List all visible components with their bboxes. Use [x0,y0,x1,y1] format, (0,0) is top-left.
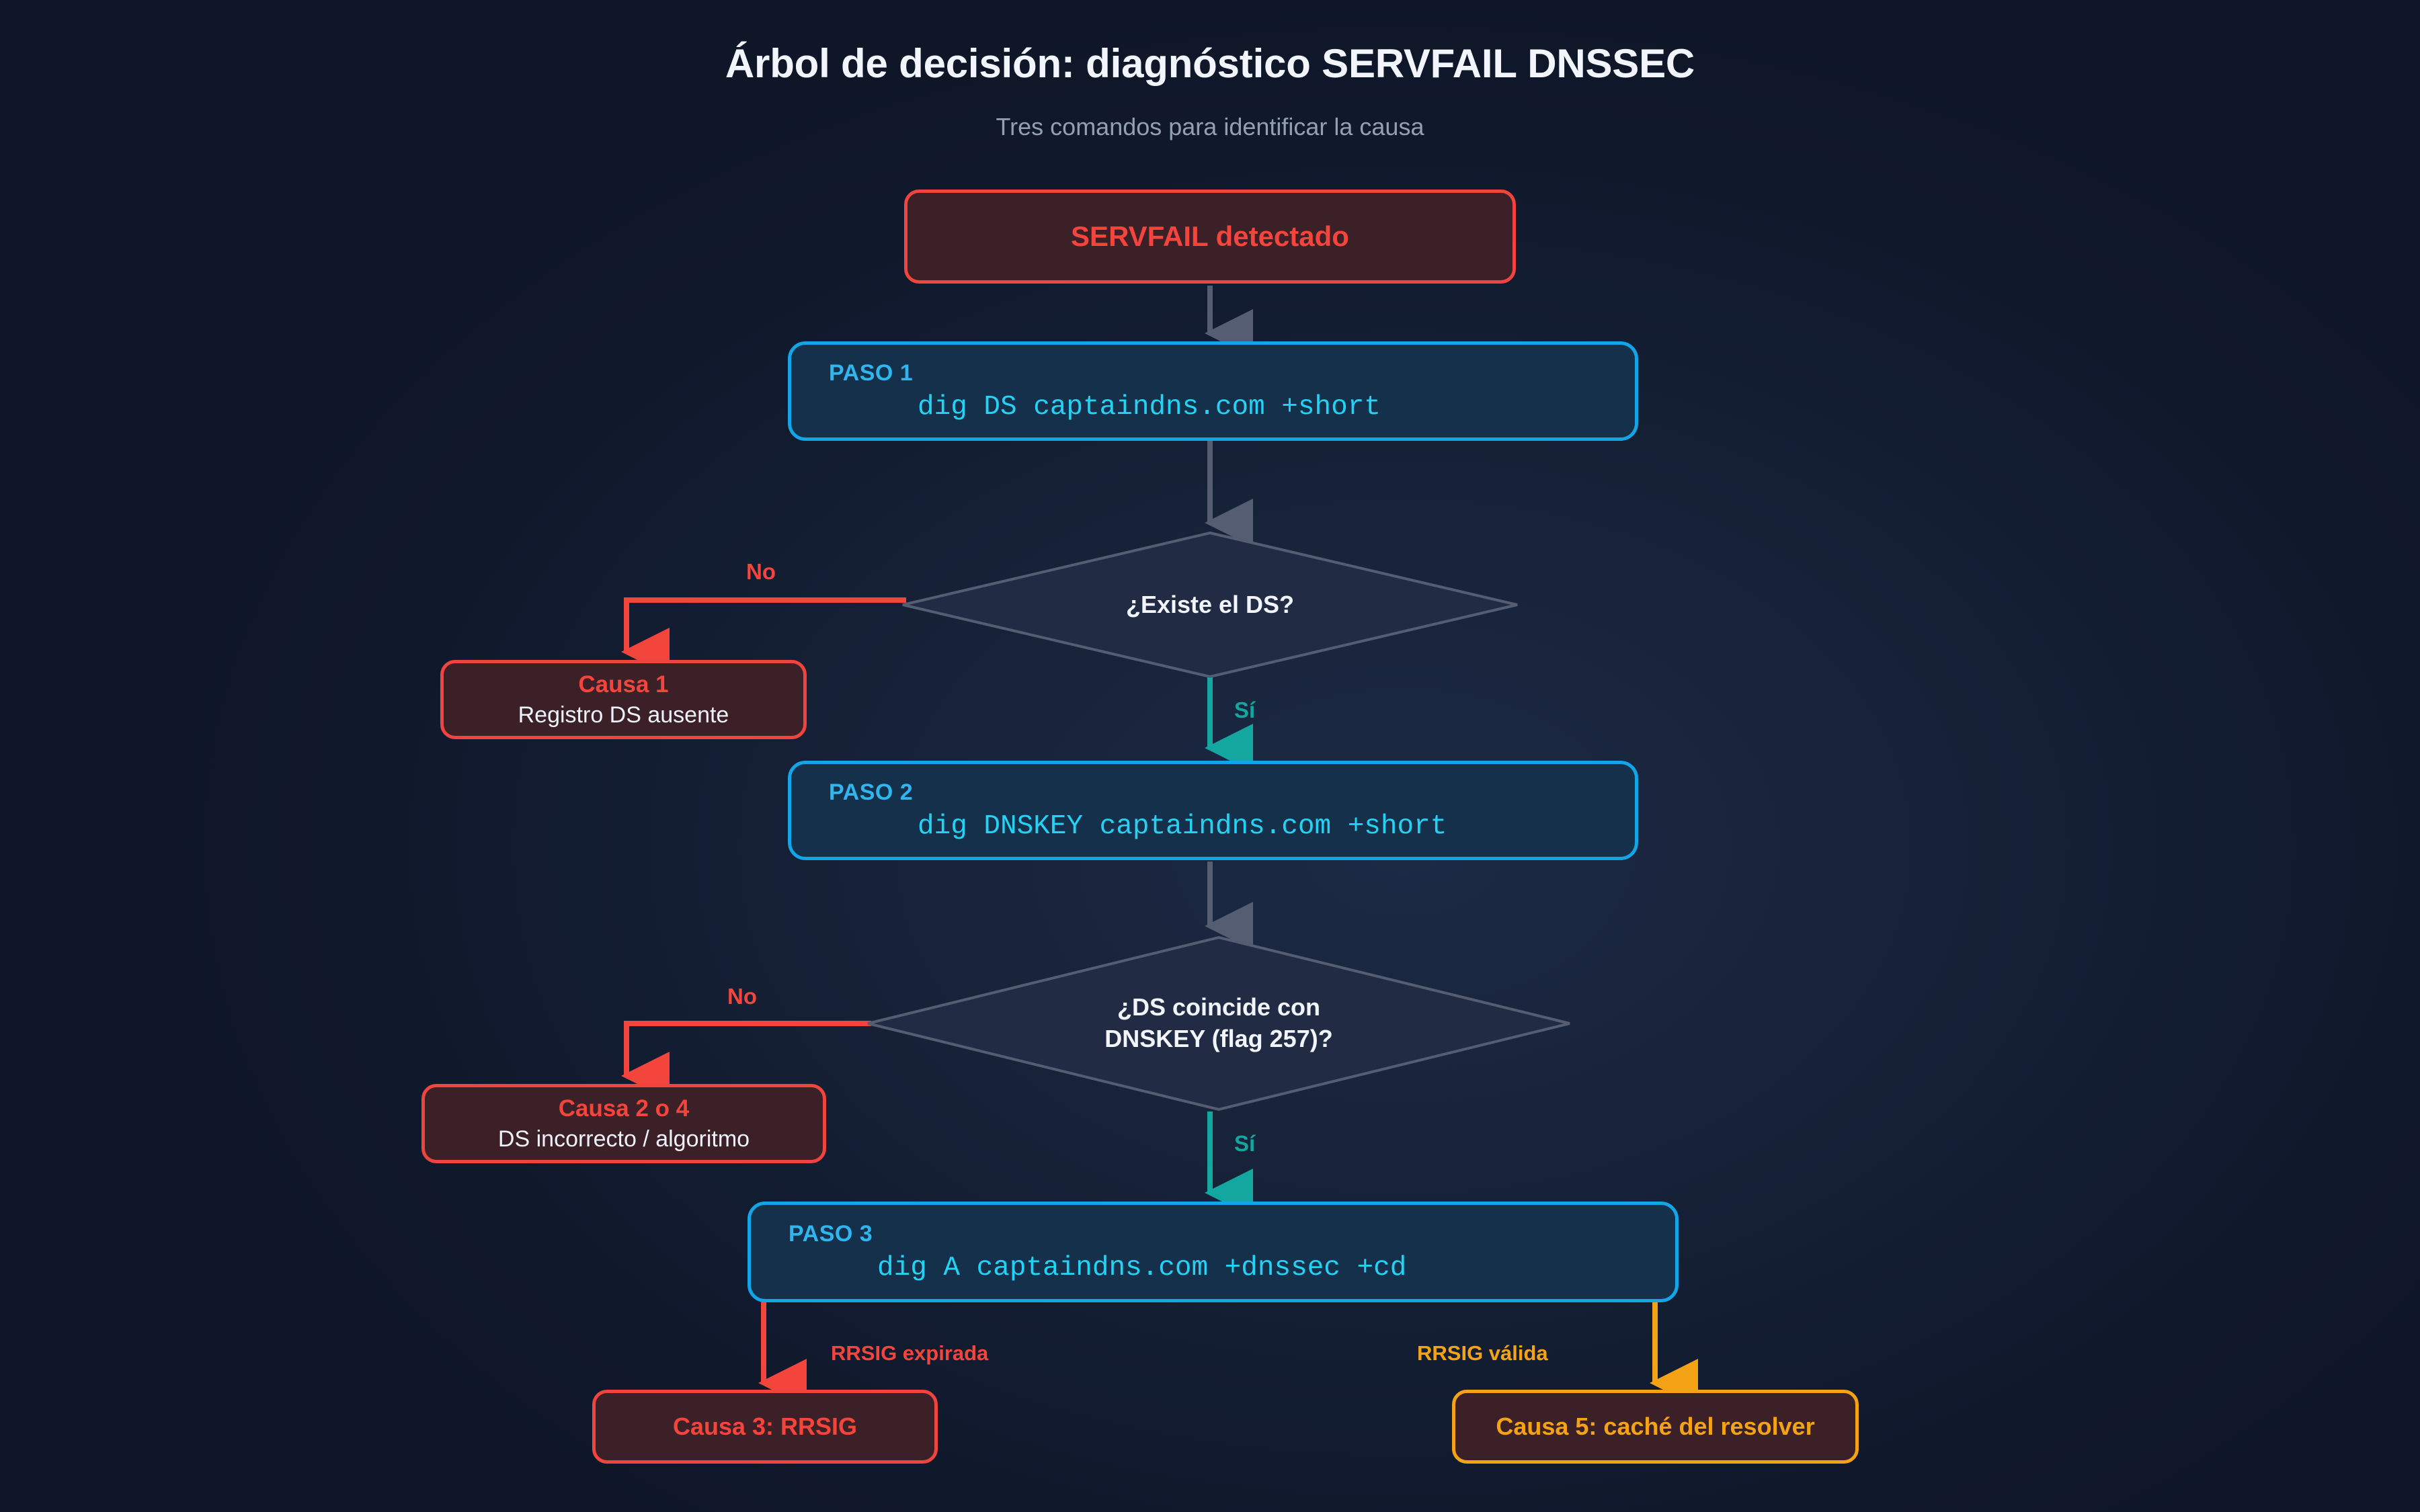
edge-label-rrsig-expirada: RRSIG expirada [831,1341,988,1366]
node-causa-1[interactable]: Causa 1 Registro DS ausente [440,660,807,739]
decision-2-question-line1: ¿DS coincide con [1104,992,1332,1023]
edge-step3-rrsig-valid [1408,1294,1655,1383]
causa-1-title: Causa 1 [578,671,668,698]
node-servfail-detectado[interactable]: SERVFAIL detectado [904,190,1516,284]
paso-2-step-label: PASO 2 [829,780,913,806]
diagram-canvas: Árbol de decisión: diagnóstico SERVFAIL … [0,0,2420,1512]
causa-24-title: Causa 2 o 4 [559,1095,690,1122]
decision-ds-coincide-dnskey[interactable]: ¿DS coincide con DNSKEY (flag 257)? [866,935,1572,1111]
paso-3-command: dig A captaindns.com +dnssec +cd [877,1253,1406,1284]
decision-2-question: ¿DS coincide con DNSKEY (flag 257)? [1104,992,1332,1055]
node-paso-1[interactable]: PASO 1 dig DS captaindns.com +short [788,341,1638,441]
decision-1-question: ¿Existe el DS? [1126,589,1294,621]
page-title: Árbol de decisión: diagnóstico SERVFAIL … [0,40,2420,87]
edge-step3-rrsig-expired [764,1294,1022,1383]
decision-2-question-line2: DNSKEY (flag 257)? [1104,1023,1332,1055]
causa-1-detail: Registro DS ausente [518,702,729,728]
edge-label-decision2-si: Sí [1234,1131,1255,1157]
node-servfail-label: SERVFAIL detectado [1071,220,1349,253]
edge-label-rrsig-valida: RRSIG válida [1417,1341,1548,1366]
paso-3-step-label: PASO 3 [789,1221,873,1247]
node-causa-3-rrsig[interactable]: Causa 3: RRSIG [592,1390,938,1464]
edge-decision2-no [627,1023,871,1076]
node-paso-3[interactable]: PASO 3 dig A captaindns.com +dnssec +cd [748,1202,1679,1302]
page-subtitle: Tres comandos para identificar la causa [0,113,2420,141]
decision-existe-el-ds[interactable]: ¿Existe el DS? [901,531,1519,679]
node-causa-2-o-4[interactable]: Causa 2 o 4 DS incorrecto / algoritmo [421,1084,826,1163]
paso-2-command: dig DNSKEY captaindns.com +short [918,811,1447,842]
causa-3-title: Causa 3: RRSIG [673,1413,857,1441]
node-paso-2[interactable]: PASO 2 dig DNSKEY captaindns.com +short [788,761,1638,860]
edge-label-decision1-si: Sí [1234,698,1255,723]
paso-1-step-label: PASO 1 [829,360,913,386]
edge-label-decision2-no: No [727,984,757,1009]
paso-1-command: dig DS captaindns.com +short [918,392,1381,423]
edge-label-decision1-no: No [746,559,776,585]
node-causa-5-cache-resolver[interactable]: Causa 5: caché del resolver [1452,1390,1859,1464]
causa-5-title: Causa 5: caché del resolver [1496,1413,1814,1441]
causa-24-detail: DS incorrecto / algoritmo [498,1126,750,1152]
edge-decision1-no [627,600,906,652]
